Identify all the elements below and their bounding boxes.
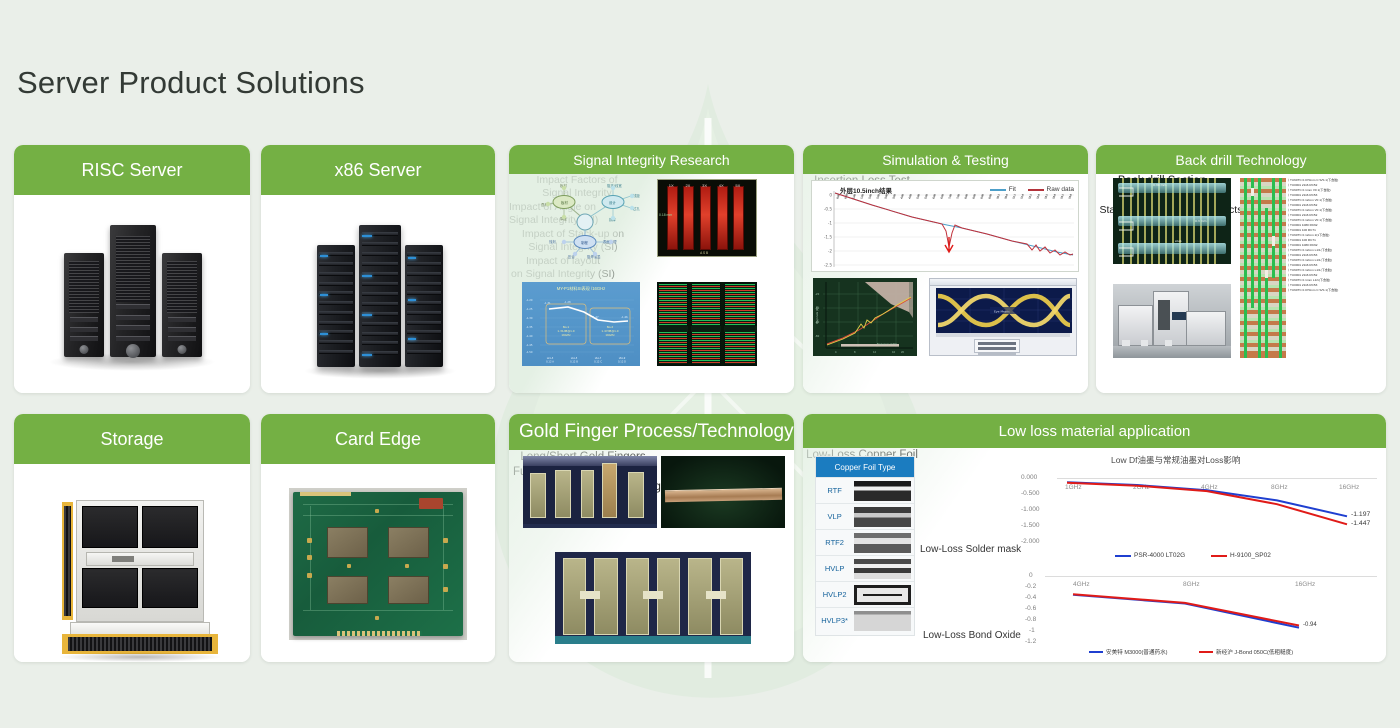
svg-text:10.6: 10.6 [1004, 193, 1009, 199]
svg-text:stub: stub [1175, 239, 1182, 243]
svg-text:14.6: 14.6 [1068, 193, 1073, 199]
svg-text:0.12 A: 0.12 A [546, 361, 554, 364]
svg-text:4.05: 4.05 [900, 193, 905, 199]
stackup-layer-labels: ⟩ TU60TC 0.070mm C S/S 1(下含胶)⟩ TU0001 21… [1288, 178, 1386, 293]
svg-text:-2.5: -2.5 [824, 263, 833, 268]
impact-of-angle-micrograph: 1X2X 3X4X 5X 0.18 mm A S B [657, 179, 757, 257]
svg-text:5.05: 5.05 [916, 193, 921, 199]
card-header-card-edge: Card Edge [261, 414, 495, 464]
copper-foil-row: HVLP [816, 555, 914, 581]
svg-text:0.30 mm: 0.30 mm [1153, 183, 1167, 187]
svg-text:5.55: 5.55 [924, 193, 929, 199]
svg-text:Eye Metric: Eye Metric [994, 310, 1010, 314]
card-body-risc-server [14, 195, 250, 393]
svg-text:12.1: 12.1 [1028, 193, 1033, 199]
svg-text:-20: -20 [815, 292, 820, 296]
chart2-xtick: 8GHz [1183, 581, 1200, 588]
copper-foil-row: VLP [816, 503, 914, 529]
copper-foil-micrograph [854, 585, 911, 605]
svg-text:12.6: 12.6 [1036, 193, 1041, 199]
card-title-signal-integrity-research: Signal Integrity Research [573, 152, 729, 168]
card-header-simulation-and-testing: Simulation & Testing [803, 145, 1088, 174]
card-risc-server[interactable]: RISC Server [14, 145, 250, 393]
svg-text:-1.45: -1.45 [526, 343, 533, 347]
card-x86-server[interactable]: x86 Server [261, 145, 495, 393]
impact-of-stackup-chart: MY-P1材料SI表现 /16GHz -1.31-1.28 -1.47-1.46 [522, 282, 640, 366]
copper-foil-micrograph [854, 533, 911, 553]
svg-text:-1.20: -1.20 [526, 298, 533, 302]
card-title-low-loss-material-application: Low loss material application [999, 423, 1191, 440]
chart1-xtick: 2GHz [1133, 484, 1150, 491]
svg-text:11.6: 11.6 [1020, 193, 1025, 199]
svg-text:14.1: 14.1 [1060, 193, 1065, 199]
copper-foil-micrograph [854, 611, 911, 631]
svg-text:-1: -1 [828, 221, 833, 226]
svg-text:Frequency (GHz): Frequency (GHz) [877, 343, 897, 346]
copper-foil-type-table: Copper Foil Type RTF VLP RTF2 HVLP [815, 456, 915, 636]
chart1-legend-h9100: H-9100_SP02 [1211, 552, 1271, 559]
svg-text:1.55: 1.55 [860, 193, 865, 199]
insertion-loss-sparam-plot: 外层10.5inch结果 Fit Raw data 0-0.5 [811, 180, 1079, 272]
chart1-ytick: -2.000 [1021, 538, 1039, 545]
svg-text:3.05: 3.05 [884, 193, 889, 199]
svg-text:8.05: 8.05 [964, 193, 969, 199]
svg-text:13.1: 13.1 [1044, 193, 1049, 199]
storage-array-photo [14, 464, 250, 662]
svg-text:7.55: 7.55 [956, 193, 961, 199]
copper-foil-name: HVLP3* [816, 616, 853, 625]
svg-text:7.05: 7.05 [948, 193, 953, 199]
card-title-storage: Storage [100, 429, 163, 450]
card-title-gold-finger-process-technology: Gold Finger Process/Technology [519, 421, 794, 443]
chart2-legend-amt-m3000: 安美特 M3000(普通药水) [1089, 648, 1168, 656]
copper-foil-name: VLP [816, 512, 853, 521]
chart1-xtick: 1GHz [1065, 484, 1082, 491]
chart2-xtick: 4GHz [1073, 581, 1090, 588]
chart2-ytick: -0.4 [1025, 594, 1036, 601]
chart2-ytick: -0.6 [1025, 605, 1036, 612]
card-header-low-loss-material-application: Low loss material application [803, 414, 1386, 448]
chart1-endlabel-h9100: -1.447 [1351, 520, 1370, 527]
svg-text:2.55: 2.55 [876, 193, 881, 199]
slide-root: Server Product Solutions RISC Server [0, 0, 1400, 728]
chart1-ytick: -1.500 [1021, 522, 1039, 529]
back-drill-section-photo: 0.30 mm0.3 mmstub [1113, 178, 1231, 264]
chart1-ytick: -1.000 [1021, 506, 1039, 513]
card-title-back-drill-technology: Back drill Technology [1175, 152, 1306, 168]
card-signal-integrity-research[interactable]: Signal Integrity Research [509, 145, 794, 393]
full-gold-plated-fingers-micrograph [661, 456, 785, 528]
copper-foil-table-header: Copper Foil Type [816, 457, 914, 477]
svg-text:-1.50: -1.50 [526, 350, 533, 354]
copper-foil-name: HVLP2 [816, 590, 853, 599]
svg-text:-0.5: -0.5 [824, 207, 833, 212]
card-simulation-and-testing[interactable]: Simulation & Testing 外层10.5inch结果 Fit Ra… [803, 145, 1088, 393]
svg-text:0.12 C: 0.12 C [594, 361, 602, 364]
rack-servers-photo [261, 195, 495, 393]
svg-text:6.05: 6.05 [932, 193, 937, 199]
card-body-card-edge [261, 464, 495, 662]
copper-foil-micrograph [854, 507, 911, 527]
aoi-back-drill-photo [1113, 284, 1231, 358]
segmented-gold-fingers-micrograph [555, 552, 751, 644]
svg-text:0: 0 [829, 193, 832, 198]
chart2-ytick: -0.2 [1025, 583, 1036, 590]
svg-text:-1.40: -1.40 [526, 334, 533, 338]
chart1-xtick: 8GHz [1271, 484, 1288, 491]
card-body-x86-server [261, 195, 495, 393]
eye-diagram-simulation: Eye Metric [929, 278, 1077, 356]
copper-foil-row: RTF2 [816, 529, 914, 555]
card-low-loss-material-application[interactable]: Low loss material application Copper Foi… [803, 414, 1386, 662]
svg-text:蚀刻: 蚀刻 [549, 239, 556, 244]
chart1-xtick: 4GHz [1201, 484, 1218, 491]
svg-text:4.55: 4.55 [908, 193, 913, 199]
svg-text:-1.46: -1.46 [621, 315, 628, 319]
svg-text:16GHz: 16GHz [605, 333, 615, 337]
svg-text:0.12 B: 0.12 B [570, 361, 578, 364]
card-header-signal-integrity-research: Signal Integrity Research [509, 145, 794, 174]
chart1-ytick: -0.500 [1021, 490, 1039, 497]
svg-text:-1.30: -1.30 [526, 316, 533, 320]
stackup-layer-label: ⟩ TU60TC 0.070mm C S/S 1(下含胶) [1288, 288, 1386, 293]
svg-text:8.55: 8.55 [972, 193, 977, 199]
svg-text:-1.28: -1.28 [564, 300, 571, 304]
card-card-edge[interactable]: Card Edge [261, 414, 495, 662]
svg-text:-1.35: -1.35 [526, 325, 533, 329]
card-title-simulation-and-testing: Simulation & Testing [882, 152, 1009, 168]
chart2-ytick: -0.8 [1025, 616, 1036, 623]
card-title-card-edge: Card Edge [335, 429, 421, 450]
page-title: Server Product Solutions [17, 65, 365, 101]
card-title-x86-server: x86 Server [334, 160, 421, 181]
svg-text:6.55: 6.55 [940, 193, 945, 199]
card-body-low-loss-material-application: Copper Foil Type RTF VLP RTF2 HVLP [803, 448, 1386, 662]
svg-text:制程: 制程 [581, 240, 588, 245]
copper-foil-row: HVLP2 [816, 581, 914, 607]
tower-servers-photo [14, 195, 250, 393]
chart-low-df-ink-vs-conventional-ink: Low Df油墨与常规油墨对Loss影响 0.000 -0.500 -1.000… [999, 452, 1383, 574]
chart2-ytick: -1 [1029, 627, 1035, 634]
card-back-drill-technology[interactable]: Back drill Technology [1096, 145, 1386, 393]
card-body-back-drill-technology: 0.30 mm0.3 mmstub Back drill Section AOI… [1096, 174, 1386, 393]
svg-text:16GHz: 16GHz [561, 333, 571, 337]
insertion-loss-test-plot: -20-40 -60-80 48 1216 20 Frequency (GHz)… [813, 278, 917, 356]
impact-factors-mindmap: 板材叠构厚度 板材 阻抗/线宽线距 过孔铜厚 设计 蚀刻表面处理 压合阻焊油墨 … [521, 180, 649, 262]
chart1-ytick: 0.000 [1021, 474, 1037, 481]
chart1-xtick: 16GHz [1339, 484, 1359, 491]
card-header-back-drill-technology: Back drill Technology [1096, 145, 1386, 174]
chart2-endlabel: -0.94 [1303, 622, 1317, 628]
svg-text:0.12 D: 0.12 D [618, 361, 626, 364]
card-header-storage: Storage [14, 414, 250, 464]
card-gold-finger-process-technology[interactable]: Gold Finger Process/Technology Long/Shor… [509, 414, 794, 662]
copper-foil-name: HVLP [816, 564, 853, 573]
svg-text:9.55: 9.55 [988, 193, 993, 199]
stackup-of-back-drill-products-diagram [1240, 178, 1286, 358]
svg-text:13.6: 13.6 [1052, 193, 1057, 199]
copper-foil-row: RTF [816, 477, 914, 503]
chart1-title: Low Df油墨与常规油墨对Loss影响 [1111, 454, 1240, 466]
pcb-board-photo [289, 488, 467, 640]
impact-of-layout-micrograph [657, 282, 757, 366]
copper-foil-name: RTF2 [816, 538, 853, 547]
card-title-risc-server: RISC Server [81, 160, 182, 181]
svg-text:9.05: 9.05 [980, 193, 985, 199]
copper-foil-micrograph [854, 481, 911, 501]
chart1-legend-psr4000: PSR-4000 LT02G [1115, 552, 1185, 559]
copper-foil-micrograph [854, 559, 911, 579]
copper-foil-name: RTF [816, 486, 853, 495]
card-header-risc-server: RISC Server [14, 145, 250, 195]
copper-foil-row: HVLP3* [816, 607, 914, 633]
svg-text:11.1: 11.1 [1012, 193, 1017, 199]
card-body-signal-integrity-research: 板材叠构厚度 板材 阻抗/线宽线距 过孔铜厚 设计 蚀刻表面处理 压合阻焊油墨 … [509, 174, 794, 393]
long-short-gold-fingers-micrograph [523, 456, 657, 528]
svg-text:20: 20 [901, 351, 905, 354]
svg-text:0.3 mm: 0.3 mm [1195, 219, 1207, 223]
svg-text:-1.47: -1.47 [592, 315, 599, 319]
svg-text:16: 16 [892, 351, 896, 354]
svg-text:12: 12 [873, 351, 877, 354]
chart1-endlabel-psr4000: -1.197 [1351, 511, 1370, 518]
svg-text:板材: 板材 [561, 200, 568, 205]
chart2-xtick: 16GHz [1295, 581, 1315, 588]
chart2-legend-jbond-050c: 新经沪 J-Bond 050C(低粗糙度) [1199, 648, 1293, 656]
card-storage[interactable]: Storage [14, 414, 250, 662]
card-body-simulation-and-testing: 外层10.5inch结果 Fit Raw data 0-0.5 [803, 174, 1088, 393]
card-body-gold-finger-process-technology: Long/Short Gold Fingers Full Gold-Plated… [509, 450, 794, 662]
svg-text:-1.25: -1.25 [526, 307, 533, 311]
svg-text:-1.31: -1.31 [544, 301, 551, 305]
card-header-x86-server: x86 Server [261, 145, 495, 195]
svg-text:-80: -80 [815, 334, 820, 338]
svg-text:-1.5: -1.5 [824, 235, 833, 240]
chart2-ytick: -1.2 [1025, 638, 1036, 645]
chart-bond-oxide-loss: 0 -0.2 -0.4 -0.6 -0.8 -1 -1.2 4GHz 8GHz … [999, 572, 1383, 662]
svg-text:-2: -2 [828, 249, 833, 254]
chart2-ytick: 0 [1029, 572, 1033, 579]
card-header-gold-finger-process-technology: Gold Finger Process/Technology [509, 414, 794, 450]
card-body-storage [14, 464, 250, 662]
svg-text:10.1: 10.1 [996, 193, 1001, 199]
svg-text:2.05: 2.05 [868, 193, 873, 199]
svg-text:Magnitude (dB): Magnitude (dB) [816, 306, 819, 324]
svg-text:设计: 设计 [609, 200, 616, 205]
svg-text:3.55: 3.55 [892, 193, 897, 199]
